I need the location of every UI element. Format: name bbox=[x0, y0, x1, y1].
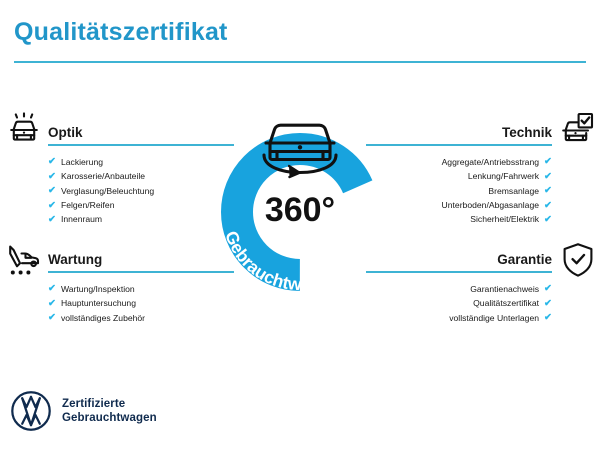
list-item: vollständige Unterlagen✔ bbox=[366, 311, 552, 325]
check-icon: ✔ bbox=[544, 157, 552, 167]
list-item-label: Wartung/Inspektion bbox=[61, 282, 135, 296]
title-divider bbox=[14, 61, 586, 63]
list-item-label: Felgen/Reifen bbox=[61, 198, 115, 212]
vw-footer-logo: Zertifizierte Gebrauchtwagen bbox=[10, 390, 157, 432]
list-item-label: Hauptuntersuchung bbox=[61, 296, 136, 310]
shield-check-icon bbox=[558, 240, 598, 280]
list-item-label: Karosserie/Anbauteile bbox=[61, 169, 145, 183]
list-item-label: Verglasung/Beleuchtung bbox=[61, 184, 154, 198]
check-icon: ✔ bbox=[48, 215, 56, 225]
list-item-label: Lenkung/Fahrwerk bbox=[468, 169, 539, 183]
check-icon: ✔ bbox=[544, 172, 552, 182]
car-rotate-icon bbox=[264, 125, 336, 177]
vw-logo-line1: Zertifizierte bbox=[62, 397, 157, 411]
check-icon: ✔ bbox=[544, 215, 552, 225]
check-icon: ✔ bbox=[48, 313, 56, 323]
list-item-label: Garantienachweis bbox=[470, 282, 539, 296]
check-icon: ✔ bbox=[48, 157, 56, 167]
check-icon: ✔ bbox=[544, 284, 552, 294]
list-item-label: Innenraum bbox=[61, 212, 102, 226]
car-shine-icon bbox=[4, 110, 44, 150]
list-item-label: Bremsanlage bbox=[488, 184, 539, 198]
list-item-label: vollständiges Zubehör bbox=[61, 311, 145, 325]
vw-logo-line2: Gebrauchtwagen bbox=[62, 411, 157, 425]
check-icon: ✔ bbox=[48, 172, 56, 182]
check-icon: ✔ bbox=[544, 299, 552, 309]
list-item-label: Aggregate/Antriebsstrang bbox=[442, 155, 539, 169]
car-checkbox-icon bbox=[556, 110, 596, 150]
list-item-label: Qualitätszertifikat bbox=[473, 296, 539, 310]
list-item-label: Unterboden/Abgasanlage bbox=[442, 198, 539, 212]
list-item: ✔vollständiges Zubehör bbox=[48, 311, 234, 325]
car-service-tool-icon bbox=[4, 240, 44, 280]
qualitaetszertifikat-page: Qualitätszertifikat bbox=[0, 0, 600, 450]
check-icon: ✔ bbox=[48, 186, 56, 196]
badge-center-label: 360° bbox=[265, 191, 335, 229]
check-icon: ✔ bbox=[544, 313, 552, 323]
list-item-label: Sicherheit/Elektrik bbox=[470, 212, 539, 226]
volkswagen-logo-icon bbox=[10, 390, 52, 432]
check-icon: ✔ bbox=[48, 201, 56, 211]
check-icon: ✔ bbox=[48, 299, 56, 309]
gebrauchtwagen-check-badge: Gebrauchtwagen-Check 360° bbox=[200, 100, 400, 300]
page-title: Qualitätszertifikat bbox=[14, 18, 228, 47]
check-icon: ✔ bbox=[544, 186, 552, 196]
list-item-label: Lackierung bbox=[61, 155, 103, 169]
check-icon: ✔ bbox=[48, 284, 56, 294]
list-item-label: vollständige Unterlagen bbox=[449, 311, 539, 325]
check-icon: ✔ bbox=[544, 201, 552, 211]
vw-logo-wordmark: Zertifizierte Gebrauchtwagen bbox=[62, 397, 157, 425]
